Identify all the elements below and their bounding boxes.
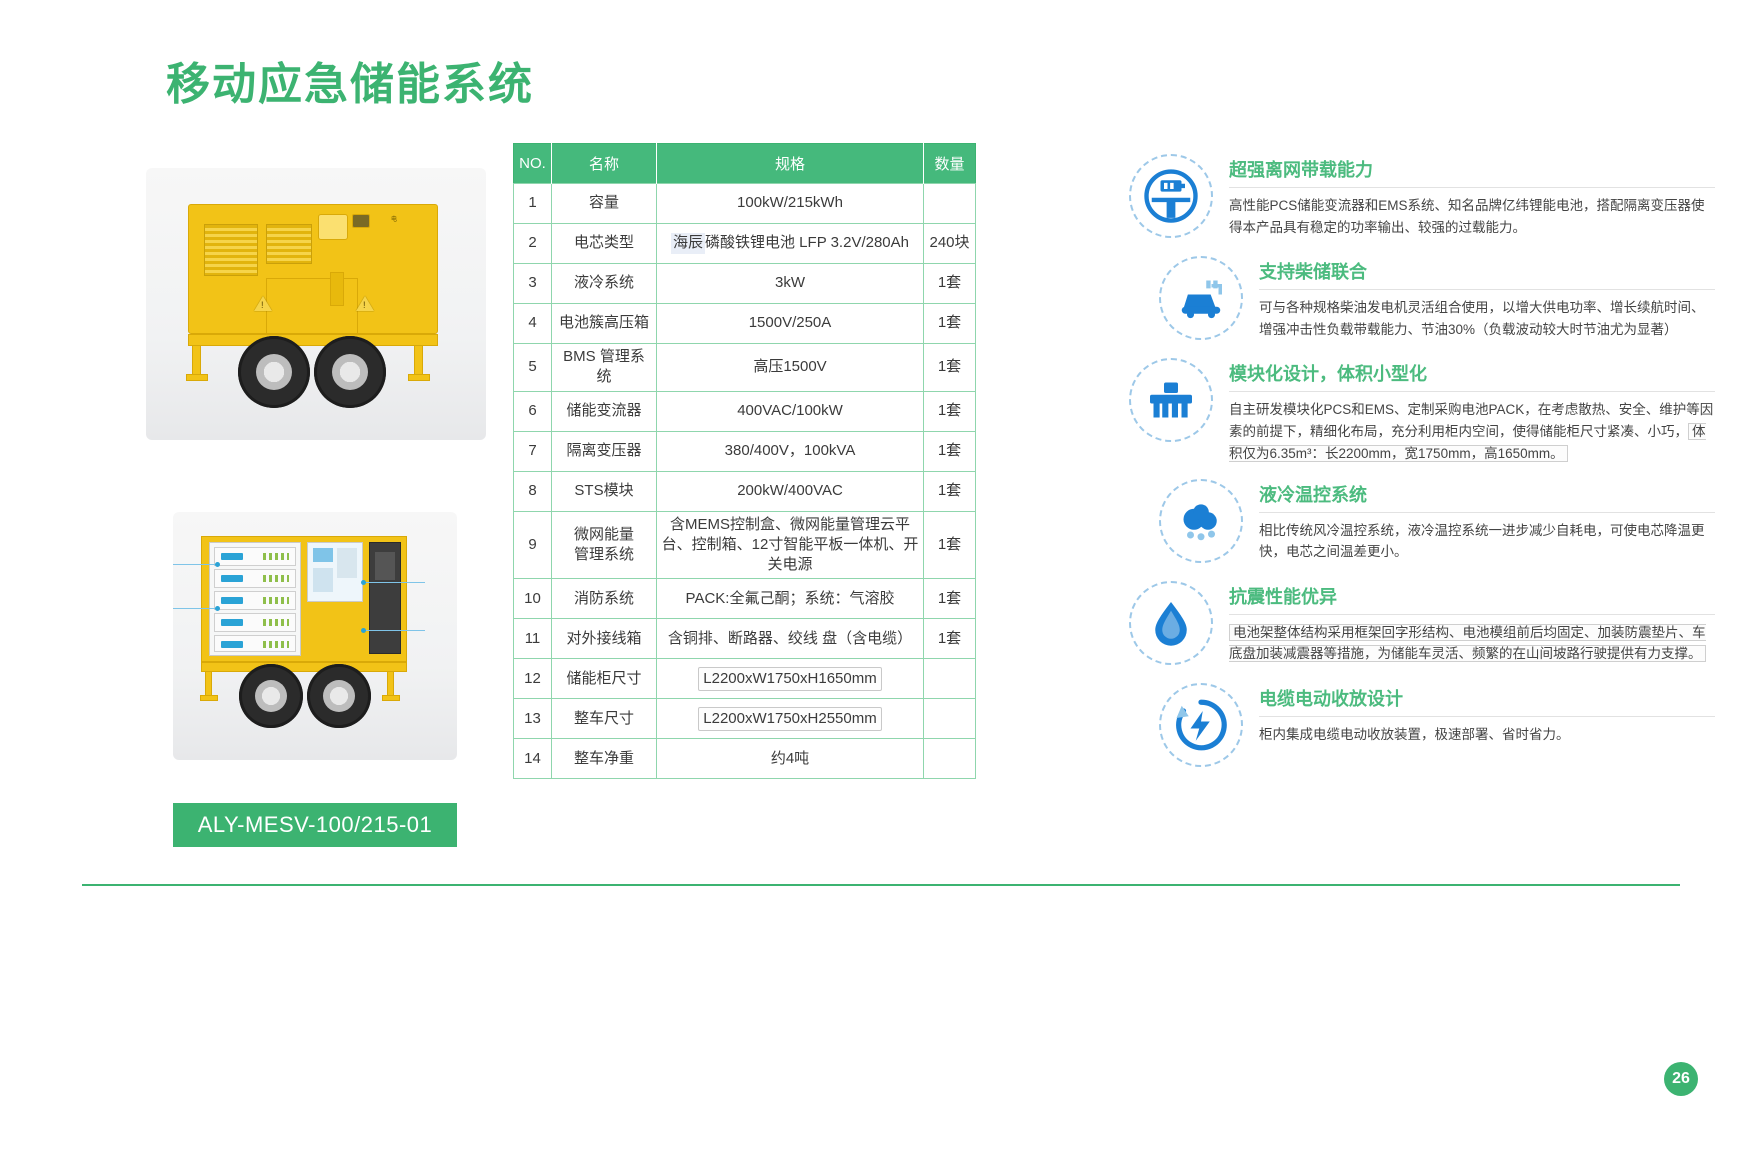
lightning-reel-icon xyxy=(1155,679,1247,771)
product-photo-interior xyxy=(173,512,457,760)
cell-no: 4 xyxy=(514,304,552,344)
cell-qty: 1套 xyxy=(924,511,976,579)
feature-description: 自主研发模块化PCS和EMS、定制采购电池PACK，在考虑散热、安全、维护等因素… xyxy=(1229,399,1715,465)
cell-no: 8 xyxy=(514,471,552,511)
feature-item: 支持柴储联合可与各种规格柴油发电机灵活组合使用，以增大供电功率、增长续航时间、增… xyxy=(1125,252,1715,344)
cell-no: 7 xyxy=(514,431,552,471)
cell-qty: 1套 xyxy=(924,471,976,511)
cell-no: 10 xyxy=(514,579,552,619)
feature-title: 电缆电动收放设计 xyxy=(1259,685,1715,717)
cell-qty: 1套 xyxy=(924,431,976,471)
ev-charging-car-icon xyxy=(1155,252,1247,344)
cell-no: 9 xyxy=(514,511,552,579)
table-row: 9微网能量管理系统含MEMS控制盒、微网能量管理云平台、控制箱、12寸智能平板一… xyxy=(514,511,976,579)
slide-root: 移动应急储能系统 电 xyxy=(0,0,1764,1172)
cell-no: 11 xyxy=(514,619,552,659)
cell-spec: PACK:全氟己酮；系统：气溶胶 xyxy=(657,579,924,619)
cell-name: BMS 管理系统 xyxy=(552,344,657,392)
feature-description: 电池架整体结构采用框架回字形结构、电池模组前后均固定、加装防震垫片、车底盘加装减… xyxy=(1229,622,1715,666)
cell-spec: L2200xW1750xH1650mm xyxy=(657,659,924,699)
cell-qty: 1套 xyxy=(924,391,976,431)
table-row: 3液冷系统3kW1套 xyxy=(514,264,976,304)
cell-no: 6 xyxy=(514,391,552,431)
cell-qty xyxy=(924,184,976,224)
feature-item: 抗震性能优异电池架整体结构采用框架回字形结构、电池模组前后均固定、加装防震垫片、… xyxy=(1125,577,1715,669)
cell-spec: 3kW xyxy=(657,264,924,304)
feature-list: 超强离网带载能力高性能PCS储能变流器和EMS系统、知名品牌亿纬锂能电池，搭配隔… xyxy=(1125,150,1715,781)
header-no: NO. xyxy=(514,144,552,184)
cell-no: 2 xyxy=(514,224,552,264)
feature-item: 电缆电动收放设计柜内集成电缆电动收放装置，极速部署、省时省力。 xyxy=(1125,679,1715,771)
specification-table: NO. 名称 规格 数量 1容量100kW/215kWh2电芯类型海辰磷酸铁锂电… xyxy=(513,143,976,779)
feature-title: 超强离网带载能力 xyxy=(1229,156,1715,188)
feature-item: 模块化设计，体积小型化自主研发模块化PCS和EMS、定制采购电池PACK，在考虑… xyxy=(1125,354,1715,465)
cell-qty xyxy=(924,739,976,779)
cell-name: 整车净重 xyxy=(552,739,657,779)
table-row: 5BMS 管理系统高压1500V1套 xyxy=(514,344,976,392)
cell-no: 14 xyxy=(514,739,552,779)
feature-body: 支持柴储联合可与各种规格柴油发电机灵活组合使用，以增大供电功率、增长续航时间、增… xyxy=(1259,252,1715,344)
cell-spec: 200kW/400VAC xyxy=(657,471,924,511)
cell-name: 电池簇高压箱 xyxy=(552,304,657,344)
feature-body: 电缆电动收放设计柜内集成电缆电动收放装置，极速部署、省时省力。 xyxy=(1259,679,1715,771)
footer-divider xyxy=(82,884,1680,886)
table-row: 12储能柜尺寸L2200xW1750xH1650mm xyxy=(514,659,976,699)
cell-qty: 1套 xyxy=(924,264,976,304)
feature-item: 液冷温控系统相比传统风冷温控系统，液冷温控系统一进步减少自耗电，可使电芯降温更快… xyxy=(1125,475,1715,567)
feature-description: 可与各种规格柴油发电机灵活组合使用，以增大供电功率、增长续航时间、增强冲击性负载… xyxy=(1259,297,1715,341)
feature-body: 模块化设计，体积小型化自主研发模块化PCS和EMS、定制采购电池PACK，在考虑… xyxy=(1229,354,1715,465)
modular-blocks-icon xyxy=(1125,354,1217,446)
cell-name: 容量 xyxy=(552,184,657,224)
cell-spec: 约4吨 xyxy=(657,739,924,779)
model-badge: ALY-MESV-100/215-01 xyxy=(173,803,457,847)
feature-title: 液冷温控系统 xyxy=(1259,481,1715,513)
feature-title: 支持柴储联合 xyxy=(1259,258,1715,290)
table-header-row: NO. 名称 规格 数量 xyxy=(514,144,976,184)
product-photo-exterior: 电 xyxy=(146,168,486,440)
cell-no: 5 xyxy=(514,344,552,392)
feature-description: 柜内集成电缆电动收放装置，极速部署、省时省力。 xyxy=(1259,724,1715,746)
cell-spec: 海辰磷酸铁锂电池 LFP 3.2V/280Ah xyxy=(657,224,924,264)
cell-name: 液冷系统 xyxy=(552,264,657,304)
cell-spec: 380/400V，100kVA xyxy=(657,431,924,471)
feature-title: 抗震性能优异 xyxy=(1229,583,1715,615)
feature-description: 高性能PCS储能变流器和EMS系统、知名品牌亿纬锂能电池，搭配隔离变压器使得本产… xyxy=(1229,195,1715,239)
feature-body: 液冷温控系统相比传统风冷温控系统，液冷温控系统一进步减少自耗电，可使电芯降温更快… xyxy=(1259,475,1715,567)
table-row: 8STS模块200kW/400VAC1套 xyxy=(514,471,976,511)
feature-body: 超强离网带载能力高性能PCS储能变流器和EMS系统、知名品牌亿纬锂能电池，搭配隔… xyxy=(1229,150,1715,242)
cell-qty: 1套 xyxy=(924,304,976,344)
table-row: 10消防系统PACK:全氟己酮；系统：气溶胶1套 xyxy=(514,579,976,619)
battery-steering-icon xyxy=(1125,150,1217,242)
cell-spec: 1500V/250A xyxy=(657,304,924,344)
table-row: 1容量100kW/215kWh xyxy=(514,184,976,224)
cooling-cloud-icon xyxy=(1155,475,1247,567)
feature-item: 超强离网带载能力高性能PCS储能变流器和EMS系统、知名品牌亿纬锂能电池，搭配隔… xyxy=(1125,150,1715,242)
cell-name: 电芯类型 xyxy=(552,224,657,264)
feature-title: 模块化设计，体积小型化 xyxy=(1229,360,1715,392)
cell-qty: 240块 xyxy=(924,224,976,264)
cell-qty: 1套 xyxy=(924,344,976,392)
cell-spec: 高压1500V xyxy=(657,344,924,392)
cell-name: 隔离变压器 xyxy=(552,431,657,471)
table-row: 13整车尺寸L2200xW1750xH2550mm xyxy=(514,699,976,739)
cell-name: 对外接线箱 xyxy=(552,619,657,659)
table-row: 11对外接线箱含铜排、断路器、绞线 盘（含电缆）1套 xyxy=(514,619,976,659)
feature-body: 抗震性能优异电池架整体结构采用框架回字形结构、电池模组前后均固定、加装防震垫片、… xyxy=(1229,577,1715,669)
table-row: 14整车净重约4吨 xyxy=(514,739,976,779)
header-name: 名称 xyxy=(552,144,657,184)
header-spec: 规格 xyxy=(657,144,924,184)
cell-qty xyxy=(924,699,976,739)
table-row: 7隔离变压器380/400V，100kVA1套 xyxy=(514,431,976,471)
cell-name: 消防系统 xyxy=(552,579,657,619)
shock-drop-icon xyxy=(1125,577,1217,669)
cell-no: 1 xyxy=(514,184,552,224)
cell-name: 微网能量管理系统 xyxy=(552,511,657,579)
page-title: 移动应急储能系统 xyxy=(166,48,534,112)
cell-spec: 400VAC/100kW xyxy=(657,391,924,431)
cell-spec: 含MEMS控制盒、微网能量管理云平台、控制箱、12寸智能平板一体机、开关电源 xyxy=(657,511,924,579)
cell-name: 储能柜尺寸 xyxy=(552,659,657,699)
cell-no: 3 xyxy=(514,264,552,304)
cell-no: 12 xyxy=(514,659,552,699)
cell-qty xyxy=(924,659,976,699)
table-row: 2电芯类型海辰磷酸铁锂电池 LFP 3.2V/280Ah240块 xyxy=(514,224,976,264)
cell-name: 储能变流器 xyxy=(552,391,657,431)
cell-name: 整车尺寸 xyxy=(552,699,657,739)
cell-qty: 1套 xyxy=(924,619,976,659)
feature-description: 相比传统风冷温控系统，液冷温控系统一进步减少自耗电，可使电芯降温更快，电芯之间温… xyxy=(1259,520,1715,564)
cell-name: STS模块 xyxy=(552,471,657,511)
cell-qty: 1套 xyxy=(924,579,976,619)
cell-spec: L2200xW1750xH2550mm xyxy=(657,699,924,739)
header-qty: 数量 xyxy=(924,144,976,184)
cell-no: 13 xyxy=(514,699,552,739)
table-row: 6储能变流器400VAC/100kW1套 xyxy=(514,391,976,431)
table-row: 4电池簇高压箱1500V/250A1套 xyxy=(514,304,976,344)
page-number-badge: 26 xyxy=(1664,1062,1698,1096)
cell-spec: 100kW/215kWh xyxy=(657,184,924,224)
cell-spec: 含铜排、断路器、绞线 盘（含电缆） xyxy=(657,619,924,659)
